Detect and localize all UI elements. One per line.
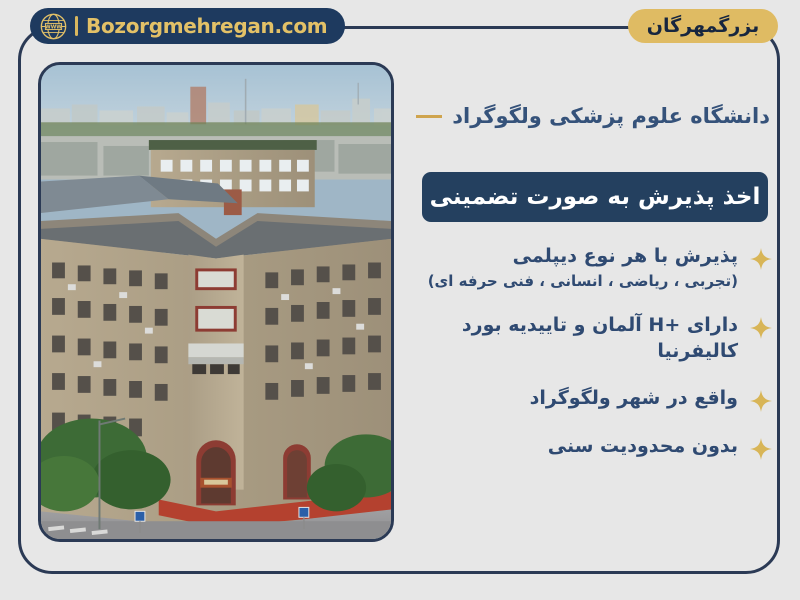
- list-item-subtitle: (تجربی ، ریاضی ، انسانی ، فنی حرفه ای): [404, 271, 738, 291]
- list-item: پذیرش با هر نوع دیپلمی (تجربی ، ریاضی ، …: [404, 244, 776, 291]
- list-item-body: پذیرش با هر نوع دیپلمی (تجربی ، ریاضی ، …: [404, 244, 738, 291]
- page-title: دانشگاه علوم پزشکی ولگوگراد: [452, 104, 770, 128]
- guarantee-banner-label: اخذ پذیرش به صورت تضمینی: [430, 184, 761, 210]
- content-column: دانشگاه علوم پزشکی ولگوگراد اخذ پذیرش به…: [404, 62, 776, 542]
- brand-name: Bozorgmehregan.com: [86, 14, 327, 38]
- list-item-body: واقع در شهر ولگوگراد: [404, 386, 738, 412]
- list-item-title: دارای +H آلمان و تاییدیه بورد کالیفرنیا: [462, 314, 738, 362]
- guarantee-banner: اخذ پذیرش به صورت تضمینی: [422, 172, 768, 222]
- list-item: دارای +H آلمان و تاییدیه بورد کالیفرنیا: [404, 313, 776, 364]
- globe-www-icon: WWW: [40, 13, 67, 40]
- site-badge[interactable]: بزرگمهرگان: [628, 9, 778, 43]
- list-item-body: دارای +H آلمان و تاییدیه بورد کالیفرنیا: [404, 313, 738, 364]
- sparkle-icon: [750, 317, 772, 339]
- university-photo-frame: [38, 62, 394, 542]
- header: WWW Bozorgmehregan.com بزرگمهرگان: [0, 0, 800, 52]
- sparkle-icon: [750, 248, 772, 270]
- site-badge-label: بزرگمهرگان: [647, 15, 759, 37]
- poster-canvas: WWW Bozorgmehregan.com بزرگمهرگان: [0, 0, 800, 600]
- sparkle-icon: [750, 438, 772, 460]
- list-item-title: بدون محدودیت سنی: [548, 435, 738, 457]
- brand-pill[interactable]: WWW Bozorgmehregan.com: [30, 8, 345, 44]
- aerial-photo-volgograd-state-medical-university: [41, 65, 391, 539]
- svg-text:WWW: WWW: [45, 24, 62, 30]
- brand-divider: [75, 16, 78, 36]
- page-title-row: دانشگاه علوم پزشکی ولگوگراد: [408, 104, 770, 128]
- list-item: واقع در شهر ولگوگراد: [404, 386, 776, 412]
- list-item-body: بدون محدودیت سنی: [404, 434, 738, 460]
- title-dash-decoration: [416, 115, 442, 118]
- list-item: بدون محدودیت سنی: [404, 434, 776, 460]
- list-item-title: پذیرش با هر نوع دیپلمی: [513, 245, 738, 267]
- sparkle-icon: [750, 390, 772, 412]
- list-item-title: واقع در شهر ولگوگراد: [530, 387, 738, 409]
- feature-list: پذیرش با هر نوع دیپلمی (تجربی ، ریاضی ، …: [404, 244, 776, 482]
